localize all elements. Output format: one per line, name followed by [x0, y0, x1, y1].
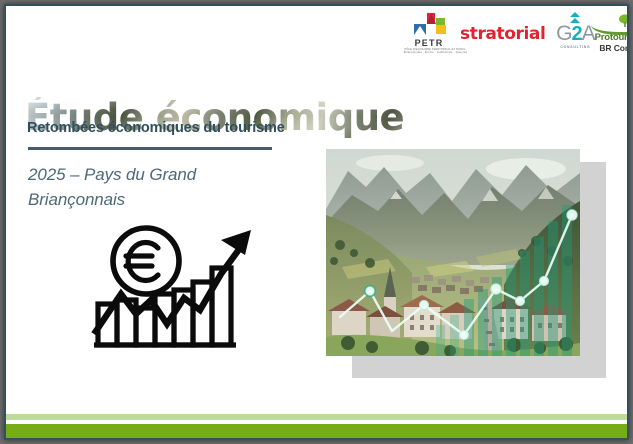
hero-photo: [326, 149, 580, 356]
petr-mark-icon: [405, 12, 453, 38]
petr-logo-name: PETR: [404, 39, 454, 48]
page-subtitle: Retombées économiques du tourisme: [27, 120, 285, 136]
page-scope-line: 2025 – Pays du Grand Briançonnais: [28, 162, 288, 212]
presentation-slide: PETR PÔLE D'ÉQUILIBRE TERRITORIAL ET RUR…: [4, 4, 629, 440]
partner-logo-strip: PETR PÔLE D'ÉQUILIBRE TERRITORIAL ET RUR…: [404, 12, 629, 58]
protourisme-logo-tagline: BR Conseil: [587, 43, 629, 53]
footer-band-dark: [6, 424, 627, 438]
protourisme-logo: Protourisme BR Conseil: [587, 12, 629, 56]
stratorial-logo: stratorial: [460, 12, 545, 56]
euro-growth-chart-icon: [88, 222, 256, 350]
stratorial-logo-name: stratorial: [460, 24, 545, 44]
petr-logo: PETR PÔLE D'ÉQUILIBRE TERRITORIAL ET RUR…: [404, 12, 454, 56]
petr-logo-tagline-2: Briançonnais · Écrins · Guillestrois · Q…: [404, 51, 454, 54]
title-divider: [28, 147, 272, 150]
protourisme-logo-name: Protourisme: [587, 32, 629, 43]
g2a-logo: G2A CONSULTING: [551, 12, 580, 56]
petr-logo-tagline-1: PÔLE D'ÉQUILIBRE TERRITORIAL ET RURAL: [405, 48, 454, 51]
